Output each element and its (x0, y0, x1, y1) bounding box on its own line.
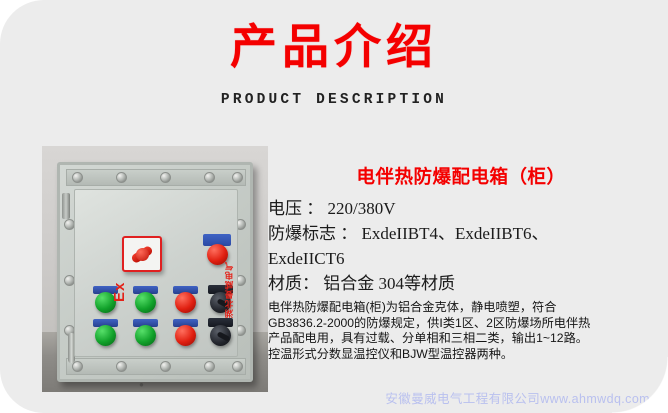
rotary-switch-hub-icon (136, 248, 149, 261)
enclosure-top-flange (66, 169, 246, 186)
switch-knob-icon (210, 325, 231, 346)
enclosure-side-marking: 湖北曼威电气 (225, 261, 234, 318)
rotary-switch-plate (122, 236, 162, 272)
distribution-box-enclosure: Ex 湖北曼威电气 (57, 162, 253, 382)
description-line: 控温形式分数显温控仪和BJW型温控器两种。 (268, 347, 664, 363)
header: 产品介绍 PRODUCT DESCRIPTION (0, 18, 668, 108)
enclosure-bolt-icon (160, 361, 171, 372)
enclosure-door-panel: Ex (74, 189, 238, 357)
enclosure-bolt-icon (72, 172, 83, 183)
description-line: 产品配电用，具有过载、分单相和三相二类，输出1~12路。 (268, 331, 664, 347)
footer-watermark: 安徽曼威电气工程有限公司www.ahmwdq.com (0, 388, 668, 407)
slide-canvas: 产品介绍 PRODUCT DESCRIPTION (0, 0, 668, 413)
enclosure-bolt-icon (204, 172, 215, 183)
enclosure-bolt-icon (116, 172, 127, 183)
product-description: 电伴热防爆配电箱(柜)为铝合金克体，静电喷塑，符合 GB3836.2-2000的… (268, 300, 664, 362)
enclosure-bolt-icon (204, 361, 215, 372)
enclosure-bottom-flange (66, 358, 246, 375)
product-photo: Ex 湖北曼威电气 (42, 146, 268, 392)
push-button-green (93, 319, 118, 346)
enclosure-bolt-icon (232, 361, 243, 372)
push-button-green (133, 319, 158, 346)
product-info: 电伴热防爆配电箱（柜） 电压 ： 220/380V 防爆标志 ： ExdeIIB… (268, 166, 664, 362)
spec-line-ex-mark-1: 防爆标志 ： ExdeIIBT4、ExdeIIBT6、 (268, 221, 664, 246)
button-cap-icon (175, 292, 196, 313)
page-subtitle: PRODUCT DESCRIPTION (0, 92, 668, 108)
push-button-red (173, 286, 198, 313)
enclosure-bolt-icon (116, 361, 127, 372)
push-button-green (133, 286, 158, 313)
button-cap-icon (175, 325, 196, 346)
spec-line-voltage: 电压 ： 220/380V (268, 196, 664, 221)
description-line: GB3836.2-2000的防爆规定，供I类1区、2区防爆场所电伴热 (268, 316, 664, 332)
selector-switch (208, 318, 233, 345)
enclosure-bolt-icon (160, 172, 171, 183)
button-cap-icon (135, 325, 156, 346)
product-name: 电伴热防爆配电箱（柜） (268, 166, 664, 190)
spec-line-ex-mark-2: ExdeIICT6 (268, 246, 664, 271)
ex-marking-icon: Ex (111, 282, 128, 302)
description-line: 电伴热防爆配电箱(柜)为铝合金克体，静电喷塑，符合 (268, 300, 664, 316)
button-cap-icon (95, 325, 116, 346)
button-cap-icon (135, 292, 156, 313)
page-title: 产品介绍 (0, 18, 668, 78)
enclosure-bolt-icon (72, 361, 83, 372)
product-specs: 电压 ： 220/380V 防爆标志 ： ExdeIIBT4、ExdeIIBT6… (268, 196, 664, 296)
spec-line-material: 材质： 铝合金 304等材质 (268, 271, 664, 296)
enclosure-hinge (62, 193, 70, 219)
push-button-red (173, 319, 198, 346)
enclosure-bolt-icon (232, 172, 243, 183)
